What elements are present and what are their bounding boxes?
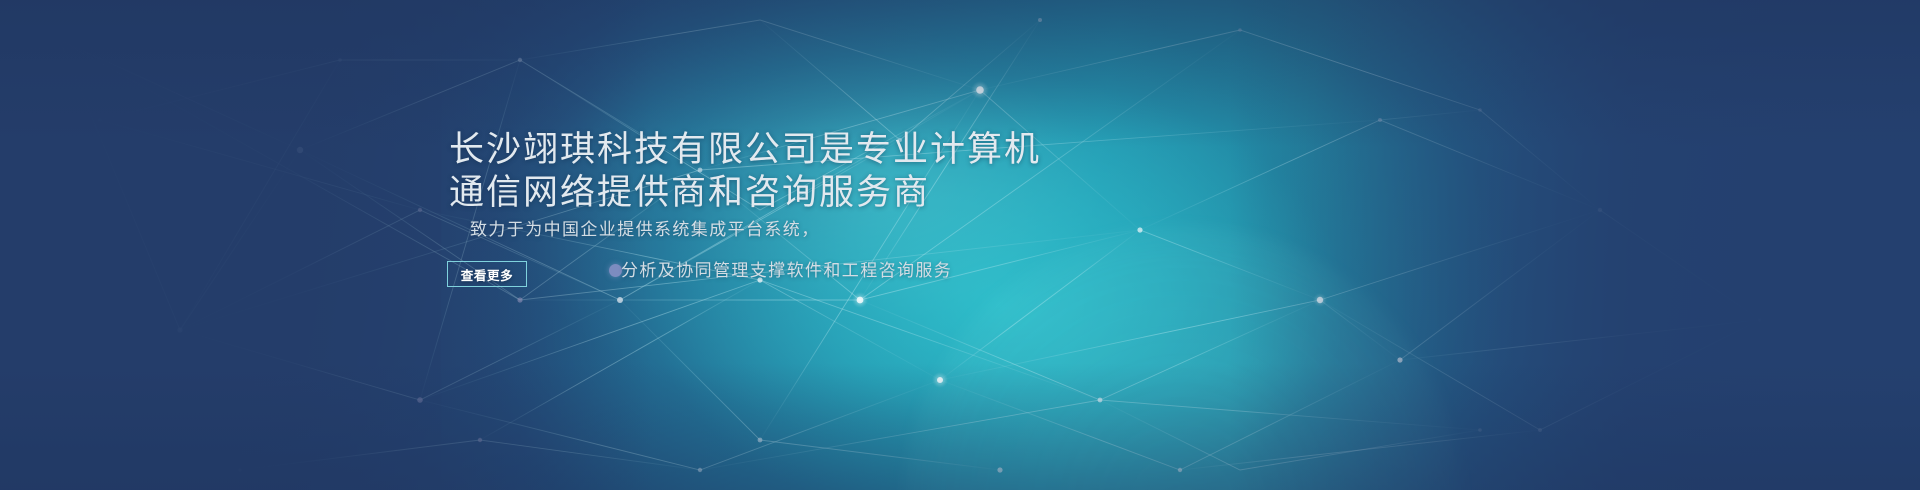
banner-subtitle-line-1: 致力于为中国企业提供系统集成平台系统， (470, 215, 820, 240)
view-more-button[interactable]: 查看更多 (447, 261, 527, 287)
headline-line-1: 长沙翊琪科技有限公司是专业计算机 (449, 128, 1041, 171)
headline-line-2: 通信网络提供商和咨询服务商 (449, 171, 1041, 214)
banner-headline: 长沙翊琪科技有限公司是专业计算机 通信网络提供商和咨询服务商 (449, 128, 1041, 214)
hero-banner: 长沙翊琪科技有限公司是专业计算机 通信网络提供商和咨询服务商 致力于为中国企业提… (0, 0, 1920, 490)
banner-subtitle-line-2: 分析及协同管理支撑软件和工程咨询服务 (621, 256, 952, 281)
banner-content: 长沙翊琪科技有限公司是专业计算机 通信网络提供商和咨询服务商 致力于为中国企业提… (0, 0, 1920, 490)
